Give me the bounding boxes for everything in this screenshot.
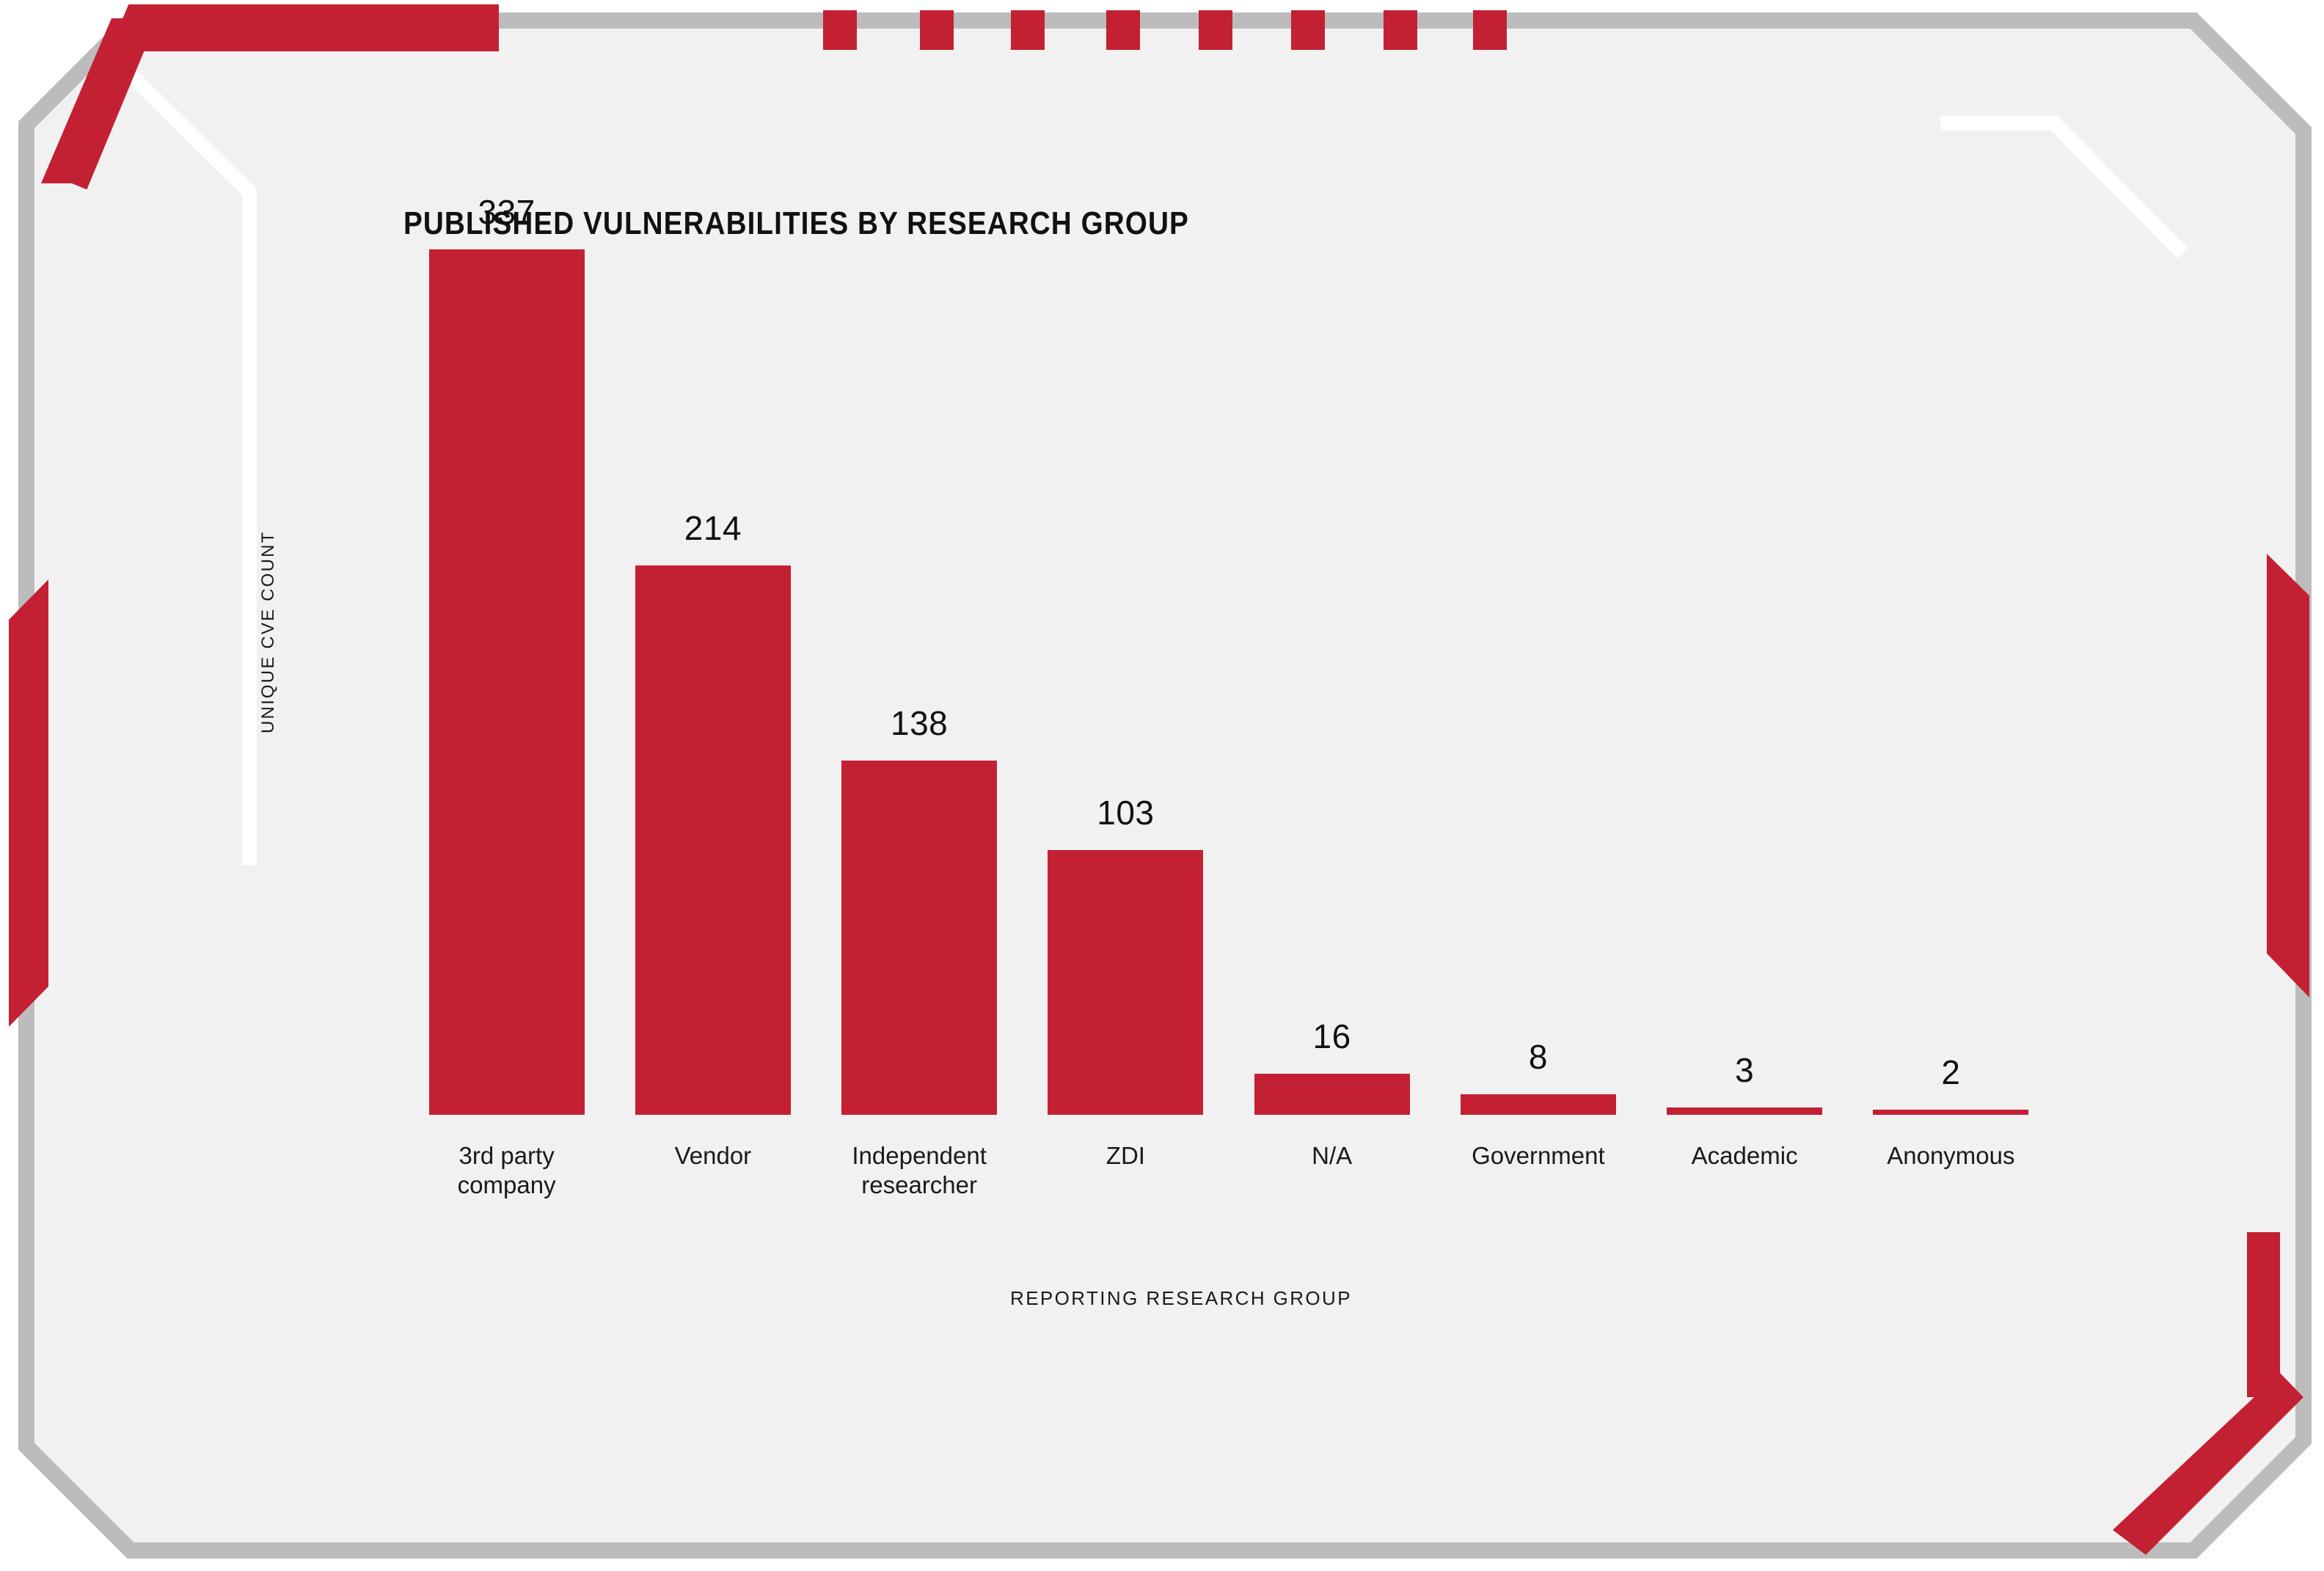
bar-group: 3Academic <box>1642 249 1848 1115</box>
bar-value-label: 2 <box>1941 1052 1960 1092</box>
bar-group: 3373rd party company <box>403 249 610 1115</box>
chart-panel: PUBLISHED VULNERABILITIES BY RESEARCH GR… <box>264 205 2098 1364</box>
bar-value-label: 3 <box>1735 1050 1754 1090</box>
bar-category-label: Government <box>1421 1141 1656 1171</box>
top-dash <box>1011 10 1045 50</box>
bar[interactable] <box>1048 850 1203 1115</box>
bar-value-label: 337 <box>478 192 536 232</box>
bar-category-label: Vendor <box>596 1141 830 1171</box>
bar-column: 3 <box>1642 249 1848 1115</box>
bar-column: 16 <box>1229 249 1435 1115</box>
y-axis-title: UNIQUE CVE COUNT <box>258 530 279 733</box>
bar-category-label: 3rd party company <box>390 1141 624 1201</box>
bar-value-label: 8 <box>1529 1037 1548 1077</box>
corner-accent-bottom-right-vertical <box>2247 1232 2280 1397</box>
top-dash <box>823 10 857 50</box>
side-accent-left <box>9 579 48 1027</box>
bar[interactable] <box>1254 1074 1410 1115</box>
bar-category-label: N/A <box>1215 1141 1450 1171</box>
bar-group: 8Government <box>1435 249 1641 1115</box>
bar-group: 2Anonymous <box>1848 249 2054 1115</box>
bar-group: 103ZDI <box>1023 249 1229 1115</box>
bar-value-label: 16 <box>1313 1017 1351 1056</box>
bar-column: 138 <box>816 249 1023 1115</box>
bar-group: 214Vendor <box>610 249 816 1115</box>
x-axis-title: REPORTING RESEARCH GROUP <box>264 1287 2098 1310</box>
bar-category-label: Independent researcher <box>802 1141 1037 1201</box>
side-accent-right <box>2267 554 2309 997</box>
bar[interactable] <box>635 565 791 1115</box>
bar-plot-area: 3373rd party company214Vendor138Independ… <box>403 249 2054 1115</box>
bar-group: 138Independent researcher <box>816 249 1023 1115</box>
bar-category-label: Anonymous <box>1833 1141 2068 1171</box>
bar-value-label: 214 <box>684 508 742 548</box>
bar-column: 103 <box>1023 249 1229 1115</box>
corner-accent-top-left-bar <box>112 18 499 51</box>
bar-column: 337 <box>403 249 610 1115</box>
bar-column: 8 <box>1435 249 1641 1115</box>
top-dash <box>1199 10 1232 50</box>
bar[interactable] <box>1461 1094 1616 1115</box>
top-dash <box>920 10 954 50</box>
bar-category-label: Academic <box>1627 1141 1862 1171</box>
bar[interactable] <box>429 249 585 1115</box>
bar-value-label: 138 <box>891 703 948 743</box>
bar-value-label: 103 <box>1097 793 1154 832</box>
bar[interactable] <box>1667 1107 1822 1116</box>
top-dash <box>1384 10 1417 50</box>
bar-group: 16N/A <box>1229 249 1435 1115</box>
bar-column: 214 <box>610 249 816 1115</box>
bar-column: 2 <box>1848 249 2054 1115</box>
bar-category-label: ZDI <box>1008 1141 1243 1171</box>
bar[interactable] <box>1873 1110 2028 1115</box>
top-dash <box>1473 10 1507 50</box>
bar[interactable] <box>841 761 997 1115</box>
top-dash <box>1291 10 1325 50</box>
top-dash <box>1106 10 1140 50</box>
